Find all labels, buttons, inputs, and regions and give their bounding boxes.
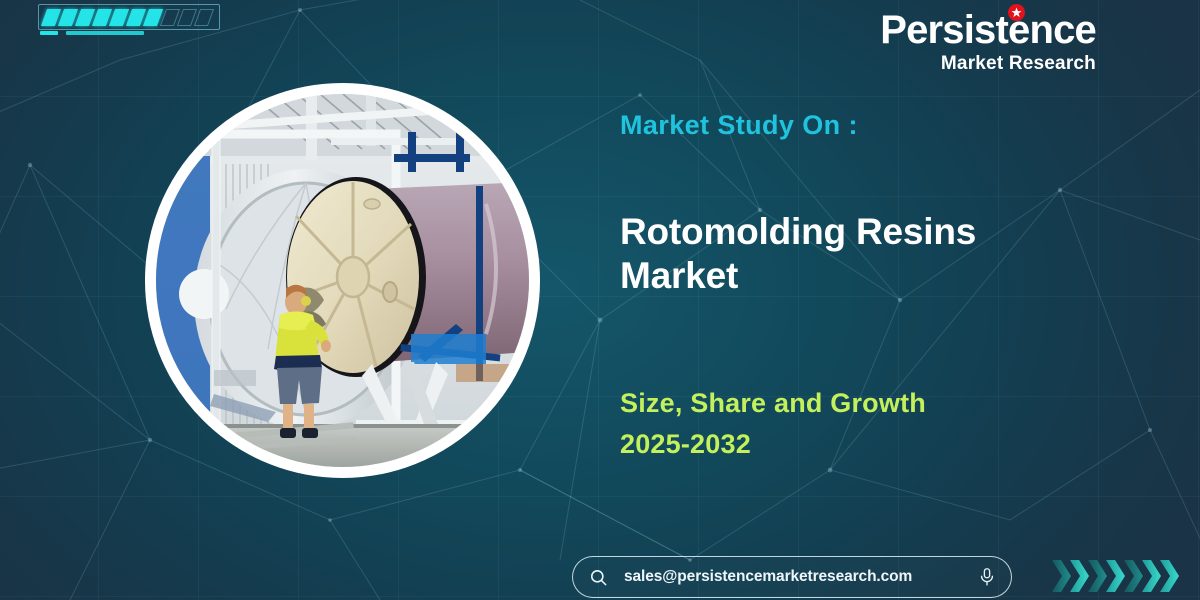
microphone-icon[interactable]: [978, 567, 996, 587]
contact-search-bar[interactable]: sales@persistencemarketresearch.com: [572, 556, 1012, 598]
loading-bar-icon: [38, 4, 220, 30]
subtitle-line-2: 2025-2032: [620, 424, 1100, 465]
hud-segment-empty: [194, 9, 214, 26]
brand-name-text: Persistence: [880, 10, 1096, 50]
subtitle-line-1: Size, Share and Growth: [620, 383, 1100, 424]
factory-scene-illustration: [156, 94, 529, 467]
chevron-decoration: [1050, 556, 1192, 596]
chevron-right-icon: [1050, 556, 1192, 596]
report-cover-photo: [145, 83, 540, 478]
hud-accent-bar-left: [40, 31, 58, 35]
subtitle-block: Size, Share and Growth 2025-2032: [620, 383, 1100, 465]
brand-logo[interactable]: Persistence Market Research: [880, 10, 1096, 77]
eyebrow-label: Market Study On :: [620, 110, 858, 141]
contact-email-value: sales@persistencemarketresearch.com: [624, 568, 978, 586]
brand-tagline: Market Research: [880, 52, 1096, 77]
market-report-banner: Market Study On : Rotomolding Resins Mar…: [0, 0, 1200, 600]
brand-name-label: Persistence: [880, 8, 1096, 52]
search-icon: [589, 568, 608, 587]
hud-accent-bar-right: [66, 31, 144, 35]
page-title: Rotomolding Resins Market: [620, 210, 1090, 297]
